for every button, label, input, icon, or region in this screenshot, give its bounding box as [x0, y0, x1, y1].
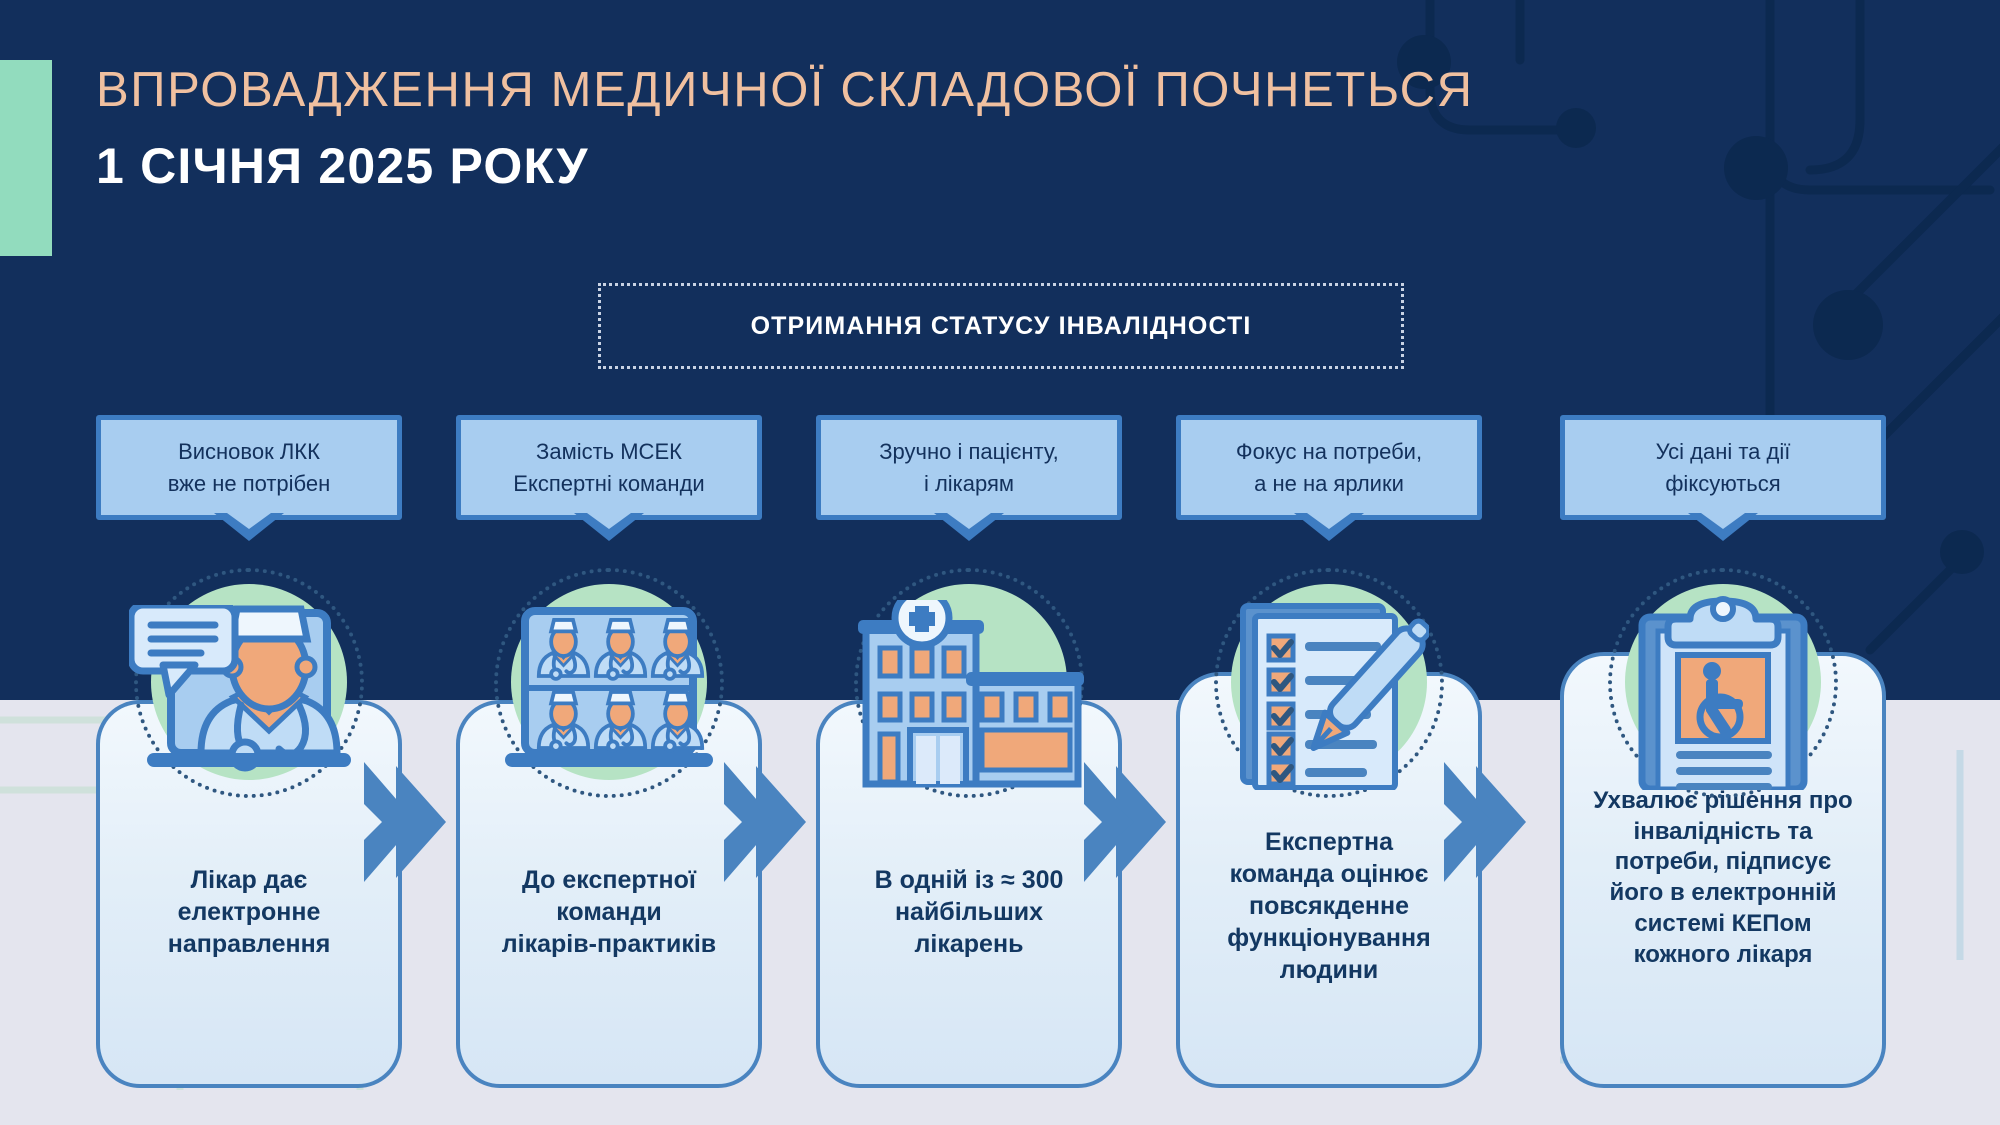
step-card-text-2: До експертної команди лікарів-практиків	[460, 864, 758, 960]
step-card-text-5: Ухвалює рішення про інвалідність та потр…	[1564, 786, 1882, 970]
step-column-3: Зручно і пацієнту, і лікарям В одній із …	[816, 0, 1122, 1125]
green-accent-bar	[0, 60, 52, 256]
step-arrow-1	[362, 760, 448, 884]
callout-bubble-text-4: Фокус на потреби, а не на ярлики	[1236, 436, 1422, 500]
infographic-slide: ВПРОВАДЖЕННЯ МЕДИЧНОЇ СКЛАДОВОЇ ПОЧНЕТЬС…	[0, 0, 2000, 1125]
step-column-4: Фокус на потреби, а не на ярлики Експерт…	[1176, 0, 1482, 1125]
callout-bubble-text-5: Усі дані та дії фіксуються	[1656, 436, 1791, 500]
step-arrow-4	[1442, 760, 1528, 884]
callout-bubble-2: Замість МСЕК Експертні команди	[456, 415, 762, 520]
hospital-building-icon	[854, 600, 1084, 790]
step-column-5: Усі дані та дії фіксуються Ухвалює рішен…	[1560, 0, 1886, 1125]
callout-bubble-1: Висновок ЛКК вже не потрібен	[96, 415, 402, 520]
step-icon-zone-3	[816, 570, 1122, 790]
doctor-team-grid-icon	[499, 605, 719, 790]
step-icon-zone-4	[1176, 570, 1482, 790]
clipboard-wheelchair-icon	[1628, 595, 1818, 790]
callout-bubble-3: Зручно і пацієнту, і лікарям	[816, 415, 1122, 520]
step-arrow-3	[1082, 760, 1168, 884]
step-icon-zone-2	[456, 570, 762, 790]
step-card-text-4: Експертна команда оцінює повсякденне фун…	[1180, 826, 1478, 986]
callout-bubble-text-2: Замість МСЕК Експертні команди	[513, 436, 704, 500]
callout-bubble-5: Усі дані та дії фіксуються	[1560, 415, 1886, 520]
callout-bubble-text-3: Зручно і пацієнту, і лікарям	[879, 436, 1058, 500]
step-arrow-2	[722, 760, 808, 884]
callout-bubble-4: Фокус на потреби, а не на ярлики	[1176, 415, 1482, 520]
step-card-text-1: Лікар дає електронне направлення	[100, 864, 398, 960]
step-column-1: Висновок ЛКК вже не потрібен Лікар дає е…	[96, 0, 402, 1125]
doctor-on-laptop-icon	[129, 605, 369, 790]
step-column-2: Замість МСЕК Експертні команди До експер…	[456, 0, 762, 1125]
checklist-pen-icon	[1229, 600, 1429, 790]
callout-bubble-text-1: Висновок ЛКК вже не потрібен	[168, 436, 331, 500]
step-card-text-3: В одній із ≈ 300 найбільших лікарень	[820, 864, 1118, 960]
step-icon-zone-5	[1560, 570, 1886, 790]
step-icon-zone-1	[96, 570, 402, 790]
